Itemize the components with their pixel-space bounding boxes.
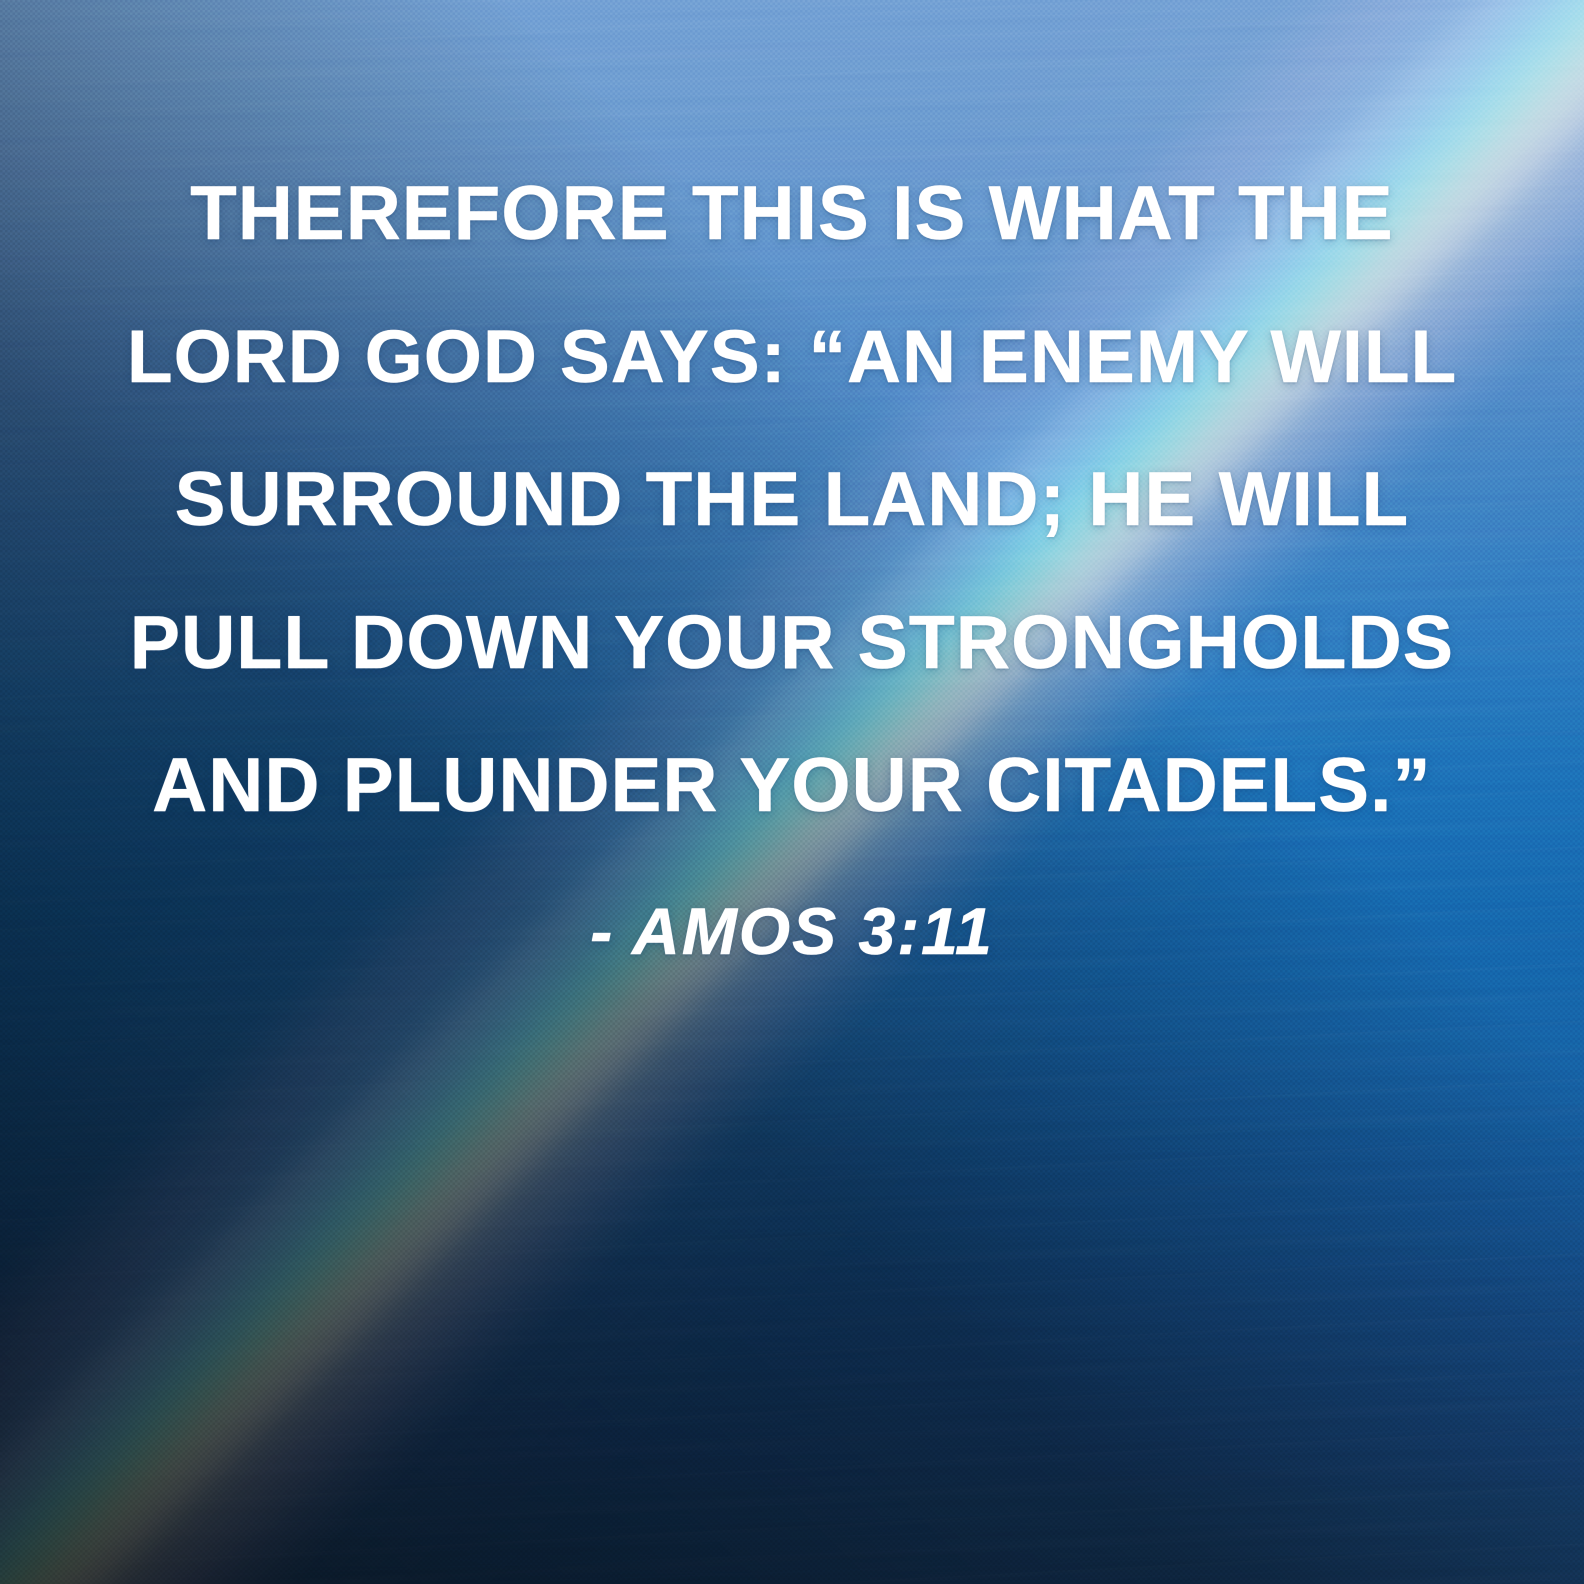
verse-image-canvas: THEREFORE THIS IS WHAT THE LORD GOD SAYS… [0, 0, 1584, 1584]
ocean-gradient-background [0, 0, 1584, 1584]
